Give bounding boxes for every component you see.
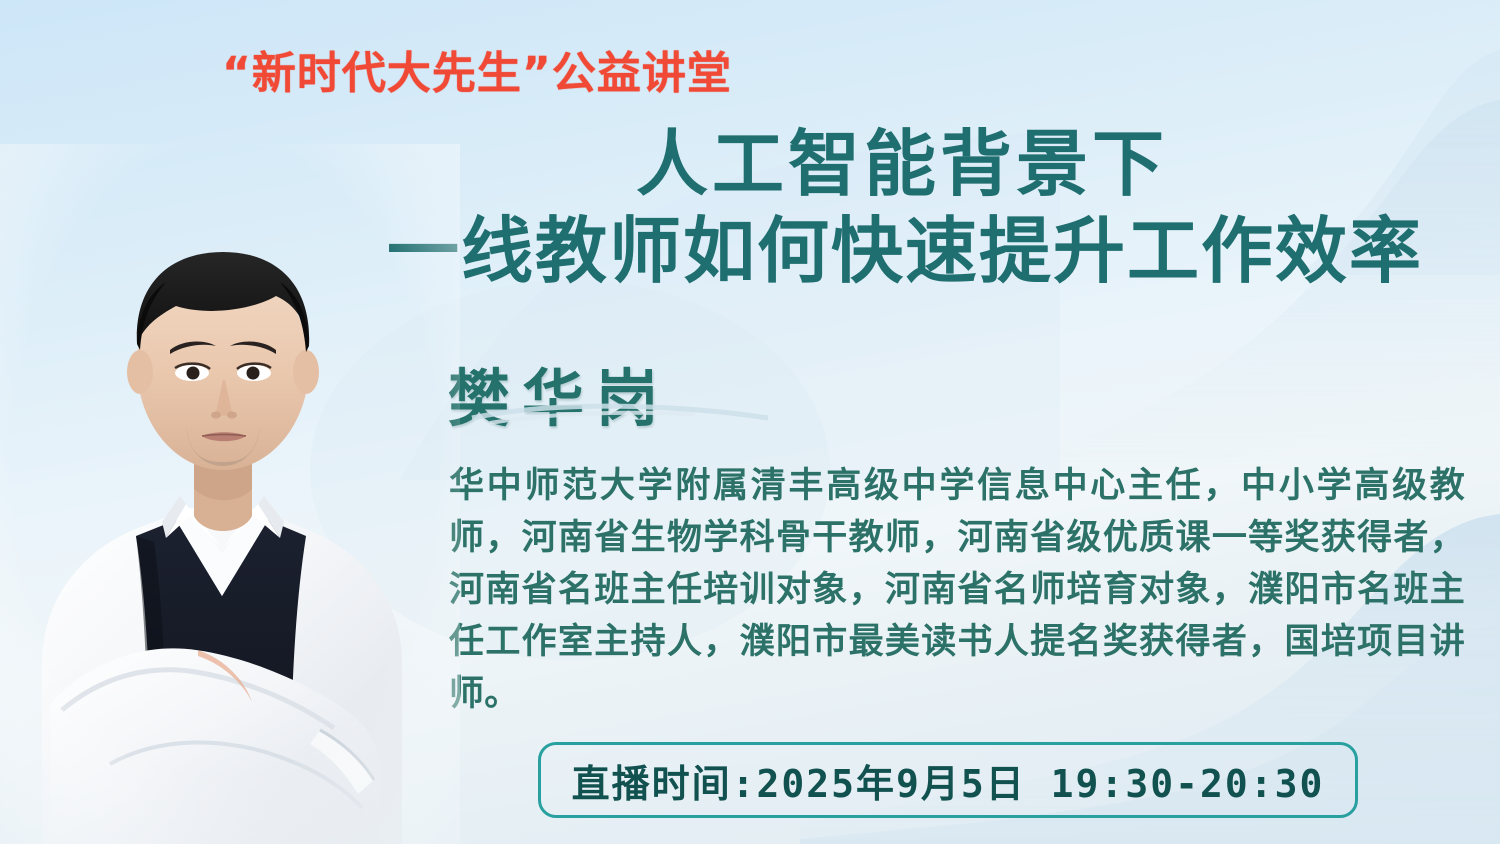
schedule-text: 直播时间:2025年9月5日 19:30-20:30 (572, 753, 1325, 808)
page-title-line1: 人工智能背景下 (324, 128, 1480, 201)
speaker-bio: 华中师范大学附属清丰高级中学信息中心主任，中小学高级教师，河南省生物学科骨干教师… (449, 460, 1465, 720)
schedule-banner: 直播时间:2025年9月5日 19:30-20:30 (538, 742, 1358, 818)
page-kicker-title: “新时代大先生”公益讲堂 (222, 37, 732, 101)
live-session-poster: “新时代大先生”公益讲堂 人工智能背景下 一线教师如何快速提升工作效率 樊华岗 … (0, 0, 1500, 844)
page-title: 人工智能背景下 一线教师如何快速提升工作效率 (330, 128, 1480, 289)
page-title-line2: 一线教师如何快速提升工作效率 (330, 215, 1480, 288)
speaker-name: 樊华岗 (448, 348, 670, 438)
